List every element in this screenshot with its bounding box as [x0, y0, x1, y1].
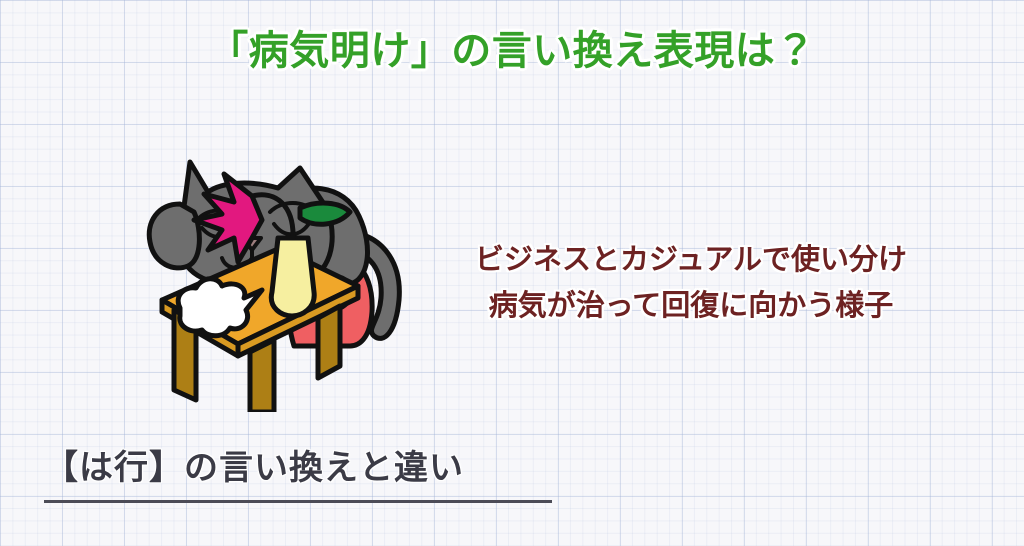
cat-left-paw	[149, 204, 199, 268]
flower-leaf	[300, 203, 350, 224]
slide-canvas: 「病気明け」の言い換え表現は？	[0, 0, 1024, 546]
sleeping-cat-illustration	[62, 140, 424, 412]
flower-vase	[271, 238, 314, 316]
caption-line-1: ビジネスとカジュアルで使い分け	[430, 236, 952, 282]
caption-block: ビジネスとカジュアルで使い分け 病気が治って回復に向かう様子	[430, 236, 952, 329]
table-leg-right	[318, 306, 340, 378]
table-leg-front	[250, 340, 274, 412]
footer-label: 【は行】の言い換えと違い	[44, 447, 554, 490]
cat-scene-svg	[62, 140, 424, 412]
page-title: 「病気明け」の言い換え表現は？	[0, 28, 1024, 74]
caption-line-2: 病気が治って回復に向かう様子	[430, 282, 952, 328]
footer-block: 【は行】の言い換えと違い	[44, 447, 554, 490]
footer-underline	[44, 500, 552, 503]
